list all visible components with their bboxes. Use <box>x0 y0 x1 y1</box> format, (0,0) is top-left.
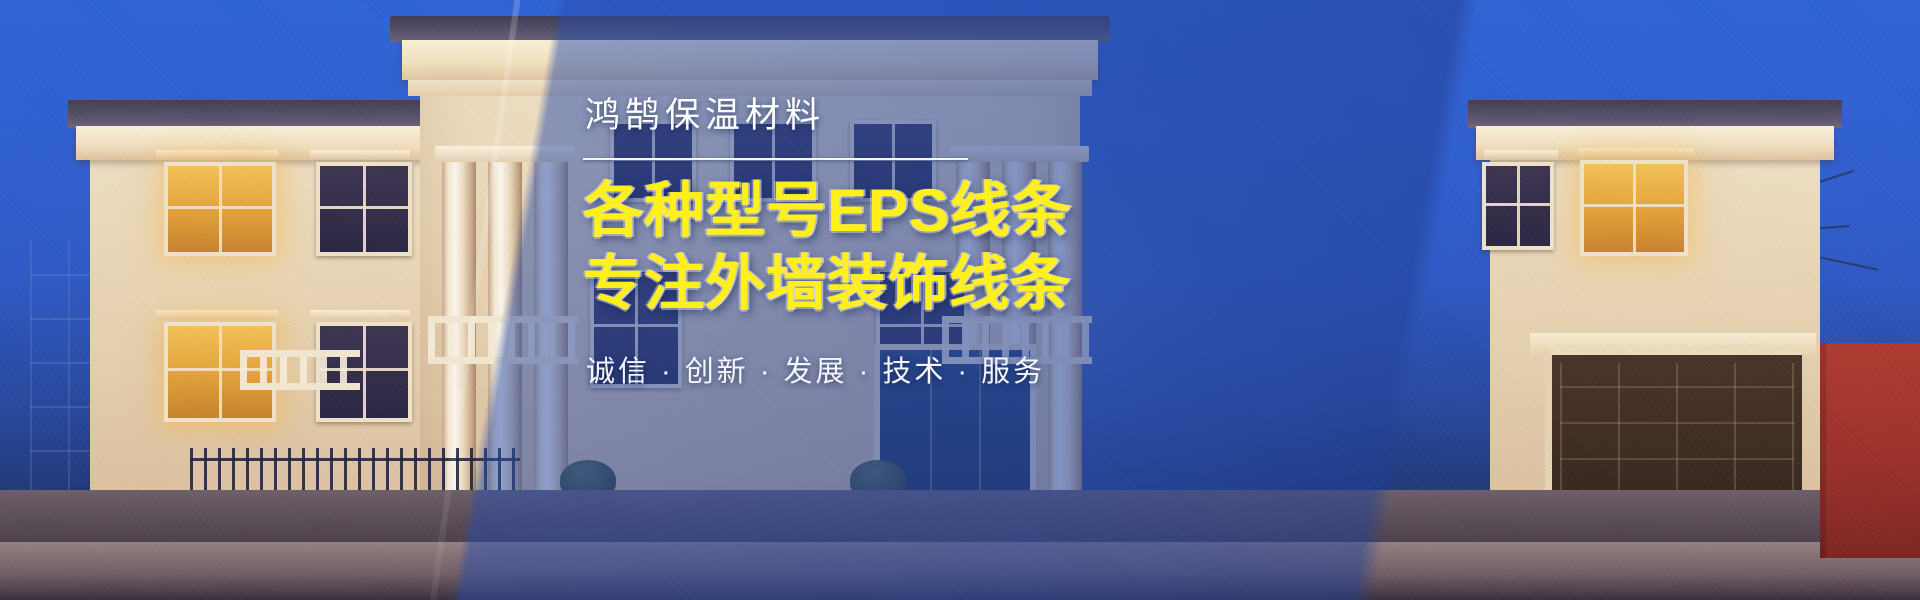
window <box>316 162 412 256</box>
window-hood <box>310 150 410 159</box>
foreground-paving <box>0 542 1920 600</box>
headline-line-2: 专注外墙装饰线条 <box>583 250 1103 317</box>
promo-banner: 鸿鹄保温材料 各种型号EPS线条 专注外墙装饰线条 诚信 · 创新 · 发展 ·… <box>0 0 1920 600</box>
center-band <box>408 80 1092 96</box>
right-wing-roof <box>1468 100 1842 128</box>
balustrade <box>240 350 360 390</box>
balustrade <box>428 316 578 364</box>
headline-line-1: 各种型号EPS线条 <box>583 177 1103 244</box>
window-lit <box>164 162 276 256</box>
window-hood <box>156 310 278 319</box>
window-lit <box>1580 160 1688 256</box>
center-cornice <box>402 40 1098 80</box>
left-wing-roof <box>68 100 442 128</box>
window-hood <box>1484 150 1558 159</box>
window-hood <box>156 150 278 159</box>
center-roof <box>390 16 1110 42</box>
window-hood <box>1578 148 1694 157</box>
tagline: 诚信 · 创新 · 发展 · 技术 · 服务 <box>586 348 1103 390</box>
window <box>1482 162 1554 250</box>
title-divider <box>583 158 968 160</box>
window-hood <box>310 310 410 319</box>
banner-copy: 鸿鹄保温材料 各种型号EPS线条 专注外墙装饰线条 诚信 · 创新 · 发展 ·… <box>583 96 1103 390</box>
brand-name: 鸿鹄保温材料 <box>585 96 1103 136</box>
red-wall <box>1820 343 1920 558</box>
